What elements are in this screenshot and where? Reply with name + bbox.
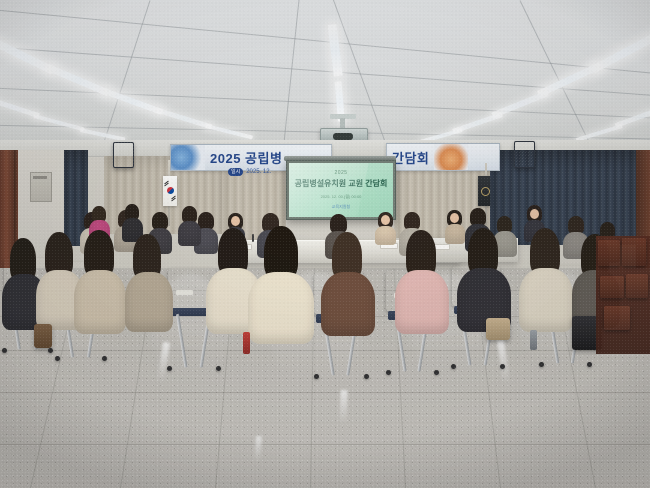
banner-decoration-icon [434, 144, 468, 170]
projection-screen: 2025 공립병설유치원 교원 간담회 2025. 12. 00.(월) 00:… [286, 160, 396, 220]
slide-year: 2025 [334, 170, 347, 176]
tumbler [530, 330, 537, 350]
banner-decoration-icon [171, 145, 205, 170]
flag-emblem-icon [481, 187, 490, 196]
wall-speaker-right [514, 141, 535, 168]
handbag [34, 324, 52, 348]
banner-left-badge: 일시 [228, 168, 243, 176]
slide-organization: 교육지원청 [332, 204, 350, 210]
ceiling-light [157, 108, 212, 129]
banner-right: 간담회 [386, 143, 500, 171]
banner-left-text: 2025 공립병 [205, 148, 287, 167]
banner-left-subtitle: 2025. 12. [246, 169, 271, 175]
taegeuk-icon [167, 187, 174, 194]
curtain-navy-right [490, 150, 640, 245]
projection-screen-surface: 2025 공립병설유치원 교원 간담회 2025. 12. 00.(월) 00:… [289, 163, 393, 217]
table-microphone [252, 234, 254, 242]
wall-speaker-left [113, 142, 134, 168]
bottle [243, 332, 250, 354]
table-paper [434, 244, 450, 250]
handbag [486, 318, 510, 340]
organization-flag [478, 176, 490, 206]
conference-room-photo: 2025 공립병 일시 2025. 12. 간담회 2025 공립병설유치원 교… [0, 0, 650, 488]
slide-title: 공립병설유치원 교원 간담회 [295, 178, 388, 189]
wall-panel-slot [33, 176, 47, 179]
fixed-wooden-seating [596, 236, 650, 354]
slide-subtitle: 2025. 12. 00.(월) 00:00 [321, 194, 362, 200]
ceiling-light [206, 124, 254, 139]
ceiling-light [328, 24, 343, 77]
ceiling-light [103, 88, 163, 115]
korean-flag [163, 176, 177, 206]
projector-lens-icon [333, 133, 353, 140]
ceiling-light [33, 114, 84, 131]
